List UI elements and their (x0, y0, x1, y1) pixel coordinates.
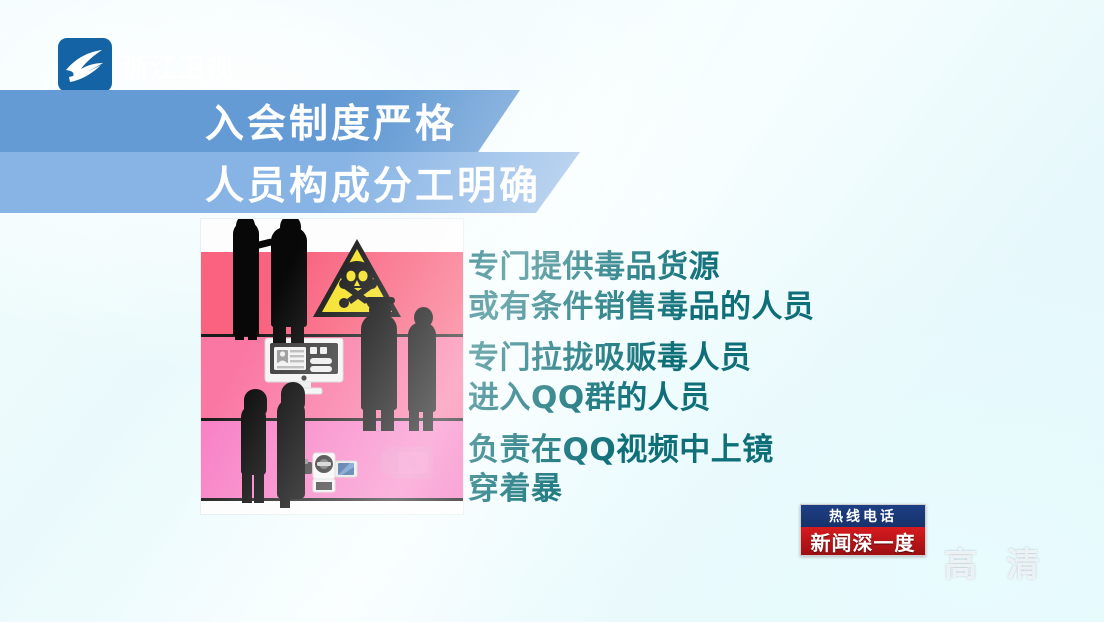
person-silhouette (365, 297, 395, 304)
hotline-badge: 热线电话 新闻深一度 (800, 504, 926, 556)
band-divider (201, 498, 463, 501)
hotline-badge-bottom: 新闻深一度 (801, 527, 925, 555)
zhejiang-tv-z-logo-icon (58, 38, 112, 92)
copy-line: 负责在QQ视频中上镜 (468, 431, 888, 471)
person-silhouette (271, 227, 307, 327)
copy-paragraph: 负责在QQ视频中上镜 穿着暴 (468, 431, 888, 510)
person-silhouette (361, 314, 397, 410)
copy-paragraph: 专门拉拢吸贩毒人员 进入QQ群的人员 (468, 339, 888, 418)
person-silhouette (273, 319, 286, 343)
title-banner-primary-text: 入会制度严格 (205, 93, 457, 149)
title-banner-secondary-text: 人员构成分工明确 (205, 155, 541, 211)
person-silhouette (246, 391, 264, 412)
person-silhouette (409, 409, 419, 431)
person-silhouette (242, 471, 252, 503)
copy-line: 进入QQ群的人员 (468, 379, 888, 419)
title-banner-primary: 入会制度严格 (0, 90, 520, 152)
hotline-badge-top: 热线电话 (801, 505, 925, 527)
channel-logo: 浙江卫视 (58, 38, 234, 92)
channel-wordmark: 浙江卫视 (122, 46, 234, 85)
body-copy: 专门提供毒品货源 或有条件销售毒品的人员 专门拉拢吸贩毒人员 进入QQ群的人员 … (468, 248, 888, 522)
person-silhouette (414, 307, 433, 328)
person-silhouette (248, 314, 257, 340)
copy-line: 专门拉拢吸贩毒人员 (468, 339, 888, 379)
broadcast-graphic-stage: 浙江卫视 入会制度严格 人员构成分工明确 (0, 0, 1104, 622)
hotline-badge-top-label: 热线电话 (829, 506, 897, 526)
person-silhouette (277, 399, 305, 499)
video-camera-icon (301, 451, 361, 495)
drug-network-infographic (201, 219, 463, 514)
title-banner-secondary: 人员构成分工明确 (0, 152, 580, 213)
copy-line: 或有条件销售毒品的人员 (468, 288, 888, 328)
copy-line: 专门提供毒品货源 (468, 248, 888, 288)
hotline-badge-bottom-label: 新闻深一度 (811, 527, 916, 556)
person-silhouette (235, 314, 244, 340)
person-silhouette (408, 322, 436, 412)
person-silhouette (363, 407, 376, 431)
desktop-monitor-icon (264, 338, 344, 396)
person-silhouette (381, 407, 394, 431)
hd-watermark: 高 清 (944, 538, 1049, 586)
person-silhouette (280, 494, 290, 508)
person-silhouette (291, 319, 304, 343)
copy-paragraph: 专门提供毒品货源 或有条件销售毒品的人员 (468, 248, 888, 327)
tv-screen-icon (379, 441, 437, 487)
person-silhouette (423, 409, 433, 431)
person-silhouette (254, 471, 264, 503)
person-silhouette (283, 385, 302, 407)
